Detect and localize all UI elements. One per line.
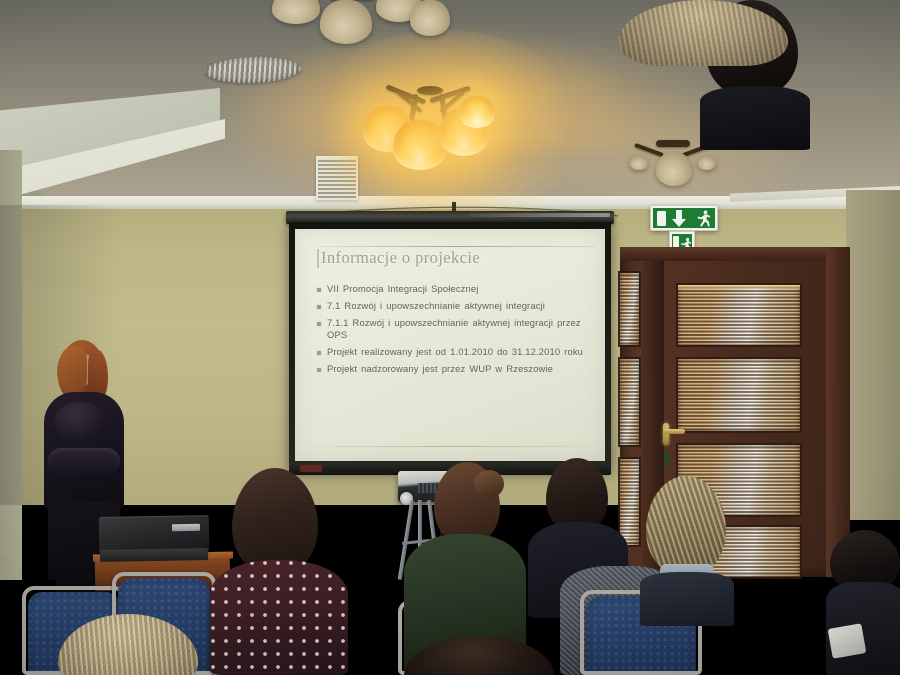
- bullet-square-icon: [317, 305, 321, 309]
- slide-bullet-item: VII Promocja Integracji Społecznej: [317, 283, 585, 295]
- presenter-shoulder-sheen: [54, 402, 106, 442]
- door-jamb-right: [826, 247, 850, 577]
- audience-hair-bun: [474, 470, 504, 498]
- projection-screen: Informacje o projekcie VII Promocja Inte…: [289, 222, 611, 470]
- audience-hair: [58, 614, 198, 675]
- audience-hair: [404, 636, 554, 675]
- screen-surface: Informacje o projekcie VII Promocja Inte…: [295, 229, 605, 461]
- slide-bullet-item: Projekt nadzorowany jest przez WUP w Rze…: [317, 363, 585, 375]
- exit-sign-face: [653, 208, 715, 228]
- audience-paper-sheet: [828, 623, 867, 658]
- laptop-base: [100, 548, 208, 562]
- door-glass-pane: [620, 359, 639, 445]
- slide-title-accent-bar: [317, 249, 319, 268]
- wall-air-grille-icon: [316, 156, 358, 200]
- audience-hair: [646, 476, 726, 574]
- audience-hair: [546, 458, 608, 532]
- door-keyhole-escutcheon: [664, 451, 669, 467]
- flower-shade-chandelier-icon: [355, 78, 505, 178]
- bullet-square-icon: [317, 322, 321, 326]
- slide-bullet-item: 7.1.1 Rozwój i upowszechnianie aktywnej …: [317, 317, 585, 340]
- door-glass-pane: [678, 359, 800, 431]
- door-lintel: [620, 247, 850, 261]
- bullet-square-icon: [317, 368, 321, 372]
- right-wall: [846, 190, 900, 520]
- presenter-folded-arms: [48, 448, 120, 474]
- slide-title-rule: [317, 246, 595, 247]
- audience-hair: [232, 468, 318, 574]
- slide-bullet-text: Projekt nadzorowany jest przez WUP w Rze…: [327, 363, 553, 375]
- audience-torso: [700, 86, 810, 150]
- laptop-brand-strip: [172, 524, 200, 531]
- bullet-square-icon: [317, 288, 321, 292]
- audience-member-far-right: [826, 530, 900, 675]
- slide-bullet-text: 7.1.1 Rozwój i upowszechnianie aktywnej …: [327, 317, 585, 340]
- door-glass-pane: [678, 285, 800, 345]
- slide-bullet-text: Projekt realizowany jest od 1.01.2010 do…: [327, 346, 583, 358]
- audience-member-front-center: [404, 636, 554, 675]
- slide-bullet-item: Projekt realizowany jest od 1.01.2010 do…: [317, 346, 585, 358]
- running-person-icon: [695, 210, 711, 227]
- audience-member-polka-dot: [210, 468, 350, 675]
- slide-bullet-text: VII Promocja Integracji Społecznej: [327, 283, 478, 295]
- emergency-exit-sign: [650, 205, 718, 231]
- presentation-slide: Informacje o projekcie VII Promocja Inte…: [295, 229, 605, 461]
- audience-member-blond: [636, 476, 736, 626]
- audience-torso: [210, 560, 348, 675]
- flower-shade-chandelier-secondary-icon: [272, 0, 462, 52]
- presenter-laptop[interactable]: [99, 515, 210, 553]
- slide-bullet-item: 7.1 Rozwój i upowszechnianie aktywnej in…: [317, 300, 585, 312]
- exit-door-glyph: [657, 211, 666, 226]
- presentation-room-photo: Informacje o projekcie VII Promocja Inte…: [0, 0, 900, 675]
- audience-member-front-blond: [58, 614, 198, 675]
- slide-bullet-list: VII Promocja Integracji Społecznej 7.1 R…: [317, 283, 585, 380]
- slide-title: Informacje o projekcie: [321, 248, 480, 268]
- door-handle[interactable]: [663, 423, 669, 445]
- door-handle-lever[interactable]: [663, 429, 685, 434]
- screen-case-highlight: [470, 213, 610, 217]
- audience-torso: [640, 572, 734, 626]
- door-glass-pane: [620, 273, 639, 345]
- slide-bullet-text: 7.1 Rozwój i upowszechnianie aktywnej in…: [327, 300, 545, 312]
- slide-bottom-rule: [317, 446, 589, 447]
- bullet-square-icon: [317, 351, 321, 355]
- door-pane-glow: [678, 285, 800, 291]
- presenter-hair-front: [57, 346, 87, 394]
